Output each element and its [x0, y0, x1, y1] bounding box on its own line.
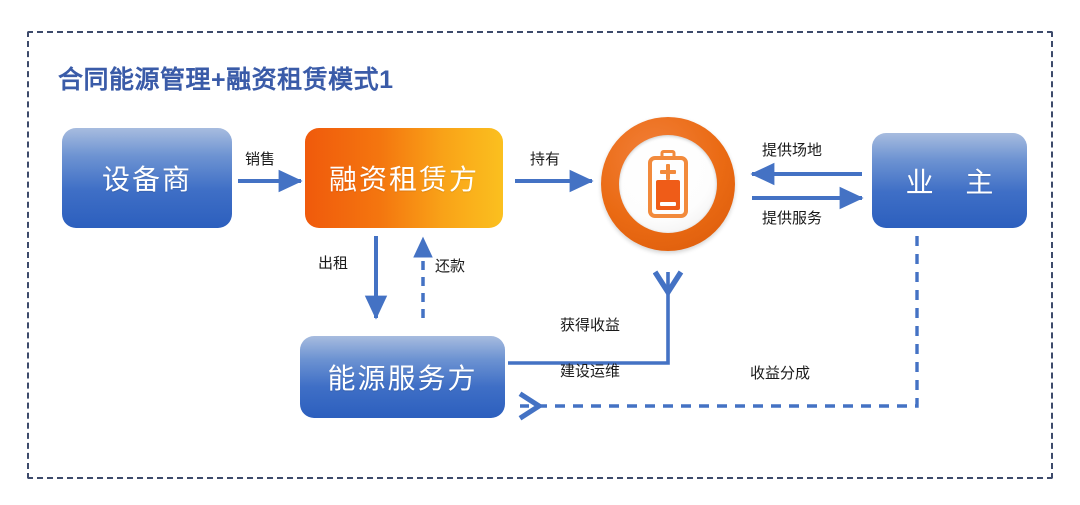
- battery-inner-disc: [619, 135, 717, 233]
- node-financial-lessor[interactable]: 融资租赁方: [305, 128, 503, 228]
- edge-label-repayment: 还款: [435, 255, 465, 276]
- node-energy-service-provider-label: 能源服务方: [327, 357, 477, 397]
- battery-icon: [646, 150, 690, 218]
- node-owner-label: 业 主: [894, 161, 1006, 201]
- edge-label-provide-service: 提供服务: [762, 207, 822, 228]
- edge-label-provide-site: 提供场地: [762, 139, 822, 160]
- node-financial-lessor-label: 融资租赁方: [329, 158, 479, 198]
- edge-label-sale: 销售: [245, 148, 275, 169]
- edge-label-hold: 持有: [530, 148, 560, 169]
- diagram-canvas: 合同能源管理+融资租赁模式1: [0, 0, 1080, 505]
- node-owner[interactable]: 业 主: [872, 133, 1027, 228]
- node-equipment-supplier[interactable]: 设备商: [62, 128, 232, 228]
- edge-label-build-om: 建设运维: [560, 360, 620, 381]
- edge-label-lease-out: 出租: [318, 252, 348, 273]
- edge-label-revenue-share: 收益分成: [750, 362, 810, 383]
- node-energy-service-provider[interactable]: 能源服务方: [300, 336, 505, 418]
- page-title: 合同能源管理+融资租赁模式1: [58, 60, 394, 96]
- outer-dashed-frame: [27, 31, 1053, 479]
- node-equipment-supplier-label: 设备商: [102, 158, 192, 198]
- edge-label-gain-revenue: 获得收益: [560, 314, 620, 335]
- node-asset-battery[interactable]: [601, 117, 735, 251]
